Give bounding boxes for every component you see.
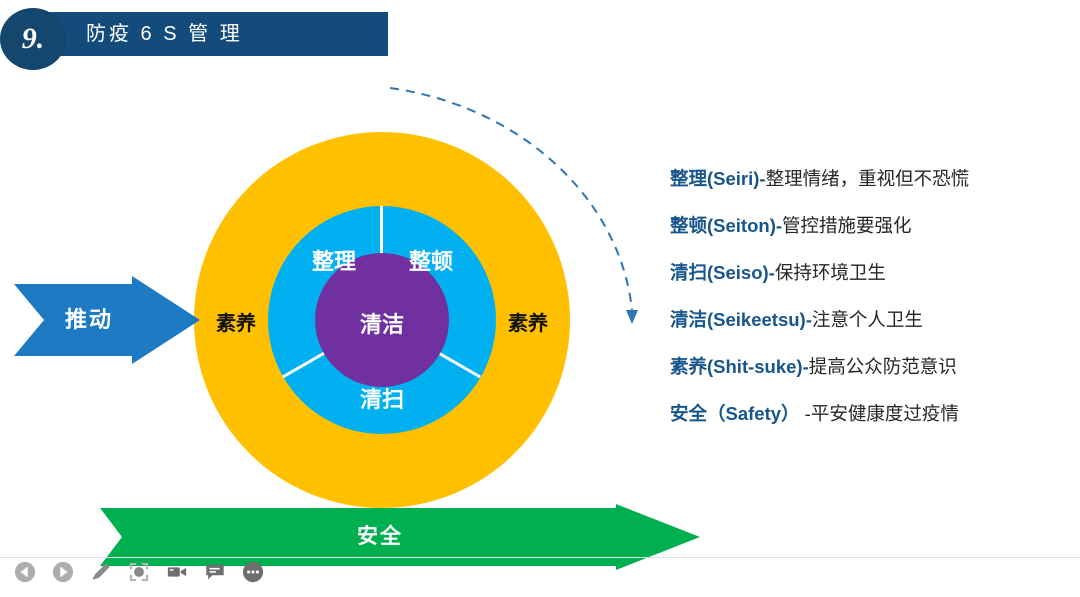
sector-label-seiton: 整顿	[386, 244, 476, 276]
slide-canvas: 9. 防疫 6 S 管 理 整理 整顿 清扫 清洁 素养 素养 推动 安全 整理…	[0, 0, 1080, 597]
list-item-term: 素养(Shit-suke)-	[670, 356, 809, 377]
sector-label-seiri: 整理	[289, 244, 379, 276]
sector-label-seiso: 清扫	[337, 382, 427, 414]
outer-label-shitsuke-right: 素养	[492, 307, 564, 336]
list-item: 整顿(Seiton)-管控措施要强化	[670, 215, 1070, 237]
list-item: 安全（Safety） -平安健康度过疫情	[670, 403, 1070, 425]
list-item: 清扫(Seiso)-保持环境卫生	[670, 262, 1070, 284]
slide-bottom-divider	[0, 557, 1080, 558]
list-item: 整理(Seiri)-整理情绪，重视但不恐慌	[670, 168, 1070, 190]
previous-icon[interactable]	[14, 561, 36, 583]
list-item: 素养(Shit-suke)-提高公众防范意识	[670, 356, 1070, 378]
definition-list: 整理(Seiri)-整理情绪，重视但不恐慌 整顿(Seiton)-管控措施要强化…	[670, 168, 1070, 450]
pencil-icon[interactable]	[90, 561, 112, 583]
list-item-desc: 管控措施要强化	[782, 215, 912, 236]
list-item-term: 安全（Safety）	[670, 403, 800, 424]
video-camera-icon[interactable]	[166, 561, 188, 583]
list-item-desc: 提高公众防范意识	[809, 356, 957, 377]
list-item-term: 整理(Seiri)-	[670, 168, 766, 189]
page-title: 防疫 6 S 管 理	[86, 12, 243, 56]
outer-label-shitsuke-left: 素养	[200, 307, 272, 336]
screenshot-icon[interactable]	[128, 561, 150, 583]
list-item-desc: 整理情绪，重视但不恐慌	[766, 168, 970, 189]
list-item-term: 清洁(Seikeetsu)-	[670, 309, 812, 330]
next-icon[interactable]	[52, 561, 74, 583]
list-item-desc: 保持环境卫生	[775, 262, 886, 283]
list-item: 清洁(Seikeetsu)-注意个人卫生	[670, 309, 1070, 331]
core-label-seiketsu: 清洁	[337, 307, 427, 339]
push-arrow-label: 推动	[14, 276, 164, 364]
comment-icon[interactable]	[204, 561, 226, 583]
list-item-desc: 注意个人卫生	[812, 309, 923, 330]
list-item-term: 整顿(Seiton)-	[670, 215, 782, 236]
concentric-ring-diagram: 整理 整顿 清扫 清洁 素养 素养	[194, 132, 570, 508]
more-icon[interactable]	[242, 561, 264, 583]
list-item-desc: -平安健康度过疫情	[800, 403, 959, 424]
slide-header: 9. 防疫 6 S 管 理	[0, 12, 388, 56]
bottom-toolbar	[14, 561, 264, 583]
header-number: 9.	[0, 8, 66, 70]
list-item-term: 清扫(Seiso)-	[670, 262, 775, 283]
